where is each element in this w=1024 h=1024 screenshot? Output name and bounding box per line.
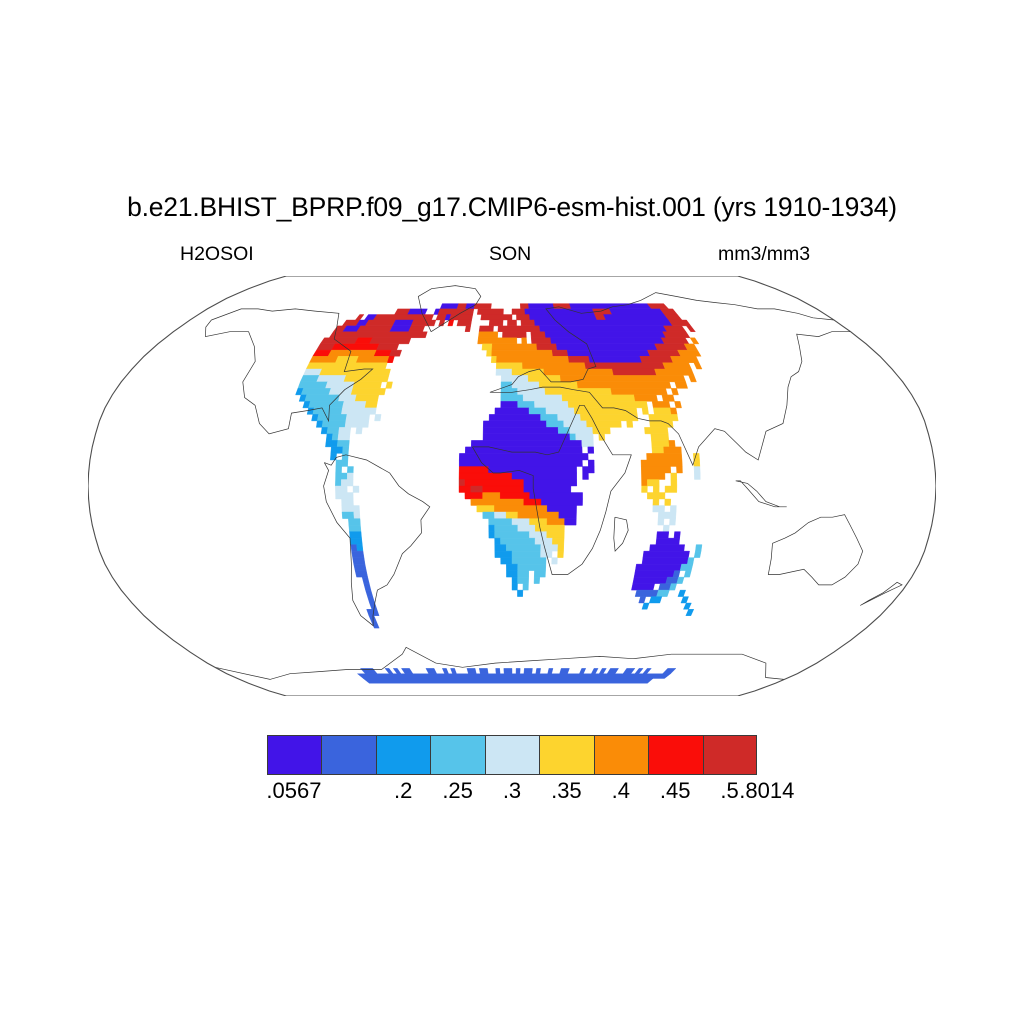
map-cell	[354, 512, 360, 519]
map-cell	[478, 338, 517, 344]
map-cell	[651, 434, 669, 441]
map-cell	[332, 344, 380, 350]
map-cell	[653, 408, 671, 415]
map-cell	[570, 427, 593, 434]
map-cell	[341, 480, 353, 487]
map-cell	[524, 499, 542, 506]
map-cell	[506, 564, 517, 571]
colorbar-segment-1[interactable]	[321, 735, 375, 775]
map-cell	[496, 363, 522, 369]
map-cell	[498, 326, 540, 332]
map-cell	[647, 480, 659, 487]
map-cell	[459, 473, 512, 480]
map-cell	[336, 460, 348, 467]
map-cell	[346, 414, 370, 421]
map-cell	[540, 326, 668, 332]
map-cell	[643, 668, 652, 673]
map-cell	[338, 395, 356, 402]
map-cell	[663, 363, 692, 369]
map-cell	[640, 356, 673, 362]
map-cell	[663, 326, 686, 332]
map-cell	[649, 414, 679, 421]
map-cell	[489, 320, 503, 326]
map-cell	[683, 603, 691, 609]
map-cell	[489, 414, 540, 421]
map-cell	[393, 668, 401, 673]
map-cell	[344, 375, 389, 382]
colorbar-segment-0[interactable]	[267, 735, 321, 775]
map-cell	[680, 564, 693, 571]
map-cell	[512, 382, 539, 389]
map-cell	[466, 304, 476, 309]
map-cell	[357, 326, 393, 332]
map-cell	[639, 597, 646, 603]
map-cell	[686, 326, 695, 332]
map-cell	[477, 506, 495, 513]
map-cell	[495, 532, 530, 539]
map-cell	[607, 668, 619, 673]
map-cell	[471, 440, 582, 447]
map-cell	[670, 408, 677, 415]
map-cell	[658, 519, 664, 526]
map-cell	[481, 315, 512, 321]
map-cell	[303, 369, 322, 375]
map-cell	[671, 473, 677, 480]
map-cell	[591, 668, 598, 673]
map-plot	[88, 276, 936, 696]
variable-label: H2OSOI	[180, 243, 254, 266]
map-cell	[518, 577, 529, 584]
map-cell	[342, 453, 348, 460]
map-cell	[548, 668, 553, 673]
map-cell	[664, 447, 682, 454]
map-cell	[568, 356, 590, 362]
map-cell	[661, 338, 689, 344]
map-cell	[529, 315, 597, 321]
map-cell	[309, 401, 344, 408]
map-cell	[336, 473, 348, 480]
map-cell	[483, 434, 570, 441]
map-cell	[658, 512, 676, 519]
map-cell	[483, 512, 495, 519]
map-cell	[642, 480, 648, 487]
map-cell	[489, 532, 495, 539]
map-cell	[659, 584, 672, 591]
map-cell	[341, 408, 376, 415]
map-cell	[568, 401, 648, 408]
map-cell	[512, 473, 577, 480]
map-cell	[337, 440, 349, 447]
colorbar-segment-7[interactable]	[648, 735, 702, 775]
map-cell	[457, 320, 472, 326]
map-cell	[635, 590, 658, 597]
colorbar-segment-5[interactable]	[539, 735, 593, 775]
map-cell	[644, 427, 668, 434]
map-cell	[536, 668, 541, 673]
map-cell	[451, 668, 457, 673]
map-cell	[569, 304, 651, 309]
map-cell	[631, 584, 654, 591]
map-cell	[449, 315, 472, 321]
map-cell	[534, 401, 568, 408]
map-cell	[486, 350, 492, 356]
colorbar-segment-2[interactable]	[376, 735, 430, 775]
map-cell	[489, 467, 577, 474]
map-cell	[546, 421, 563, 428]
colorbar-tick-1: .2	[394, 778, 412, 804]
map-cell	[335, 356, 358, 362]
map-cell	[583, 473, 589, 480]
map-cell	[495, 408, 529, 415]
coastline	[614, 517, 628, 551]
map-cell	[389, 350, 401, 356]
map-cell	[670, 356, 699, 362]
map-cell	[552, 538, 564, 545]
map-cell	[517, 590, 523, 597]
map-cell	[635, 668, 643, 673]
map-cell	[524, 486, 571, 493]
map-cell	[562, 395, 635, 402]
map-cell	[375, 414, 382, 421]
map-cell	[357, 545, 363, 552]
map-cell	[547, 532, 565, 539]
map-cell	[327, 427, 339, 434]
map-cell	[525, 309, 595, 315]
page-title: b.e21.BHIST_BPRP.f09_g17.CMIP6-esm-hist.…	[0, 192, 1024, 223]
map-cell	[335, 486, 347, 493]
map-cell	[651, 440, 669, 447]
map-cell	[529, 408, 546, 415]
map-cell	[317, 414, 347, 421]
map-cell	[653, 499, 659, 506]
map-cell	[649, 597, 662, 603]
map-cell	[350, 538, 362, 545]
map-cell	[522, 363, 586, 369]
map-cell	[393, 320, 414, 326]
map-cell	[347, 467, 353, 474]
map-cell	[694, 551, 701, 558]
map-cell	[349, 525, 361, 532]
map-cell	[329, 332, 427, 338]
map-cell	[495, 525, 518, 532]
map-cell	[694, 460, 700, 467]
map-cell	[523, 395, 562, 402]
map-cell	[355, 395, 379, 402]
map-cell	[356, 356, 389, 362]
map-cell	[518, 571, 529, 578]
map-cell	[641, 473, 665, 480]
map-cell	[459, 460, 582, 467]
map-cell	[364, 584, 371, 591]
map-cell	[529, 532, 546, 539]
map-cell	[694, 467, 700, 474]
map-cell	[501, 395, 523, 402]
map-cell	[530, 493, 583, 500]
map-cell	[401, 668, 413, 673]
map-cell	[385, 668, 393, 673]
map-cell	[663, 332, 691, 338]
map-cell	[459, 480, 465, 487]
map-cell	[642, 486, 648, 493]
map-cell	[669, 440, 675, 447]
map-cell	[656, 538, 680, 545]
map-cell	[675, 401, 682, 408]
map-cell	[465, 326, 471, 332]
map-cell	[652, 401, 670, 408]
map-cell	[492, 350, 553, 356]
map-cell	[507, 320, 516, 326]
map-cell	[354, 564, 367, 571]
map-cell	[531, 332, 546, 338]
map-cell	[663, 525, 669, 532]
map-cell	[506, 571, 517, 578]
map-cell	[321, 427, 328, 434]
map-cell	[650, 545, 685, 552]
map-cell	[438, 309, 474, 315]
map-cell	[494, 506, 547, 513]
map-cell	[642, 558, 688, 565]
map-cell	[678, 590, 686, 597]
coastline	[736, 481, 787, 507]
heatmap-cells	[296, 304, 703, 684]
map-cell	[512, 558, 546, 565]
map-cell	[298, 382, 328, 389]
season-label: SON	[489, 243, 531, 266]
map-cell	[633, 577, 668, 584]
colorbar-segment-8[interactable]	[703, 735, 757, 775]
map-cell	[662, 395, 675, 402]
map-cell	[465, 493, 483, 500]
map-cell	[612, 369, 656, 375]
map-cell	[689, 375, 697, 382]
map-cell	[494, 512, 506, 519]
map-cell	[587, 421, 622, 428]
map-cell	[500, 538, 535, 545]
map-cell	[531, 338, 551, 344]
map-cell	[336, 467, 342, 474]
map-cell	[501, 401, 518, 408]
map-cell	[544, 369, 614, 375]
map-cell	[483, 427, 558, 434]
map-cell	[512, 577, 518, 584]
map-cell	[474, 304, 492, 309]
colorbar-segment-4[interactable]	[485, 735, 539, 775]
map-cell	[467, 668, 476, 673]
map-cell	[643, 551, 690, 558]
map-cell	[647, 493, 665, 500]
map-cell	[501, 558, 512, 565]
map-cell	[676, 467, 682, 474]
map-cell	[558, 414, 581, 421]
map-cell	[567, 350, 650, 356]
map-cell	[482, 344, 492, 350]
map-cell	[671, 480, 677, 487]
map-cell	[349, 532, 361, 539]
map-cell	[491, 356, 497, 362]
map-cell	[328, 350, 377, 356]
map-cell	[496, 668, 501, 673]
colorbar-segment-3[interactable]	[430, 735, 484, 775]
map-cell	[353, 486, 359, 493]
map-cell	[325, 382, 354, 389]
map-cell	[657, 590, 670, 597]
map-cell	[674, 532, 680, 539]
colorbar-tick-8: .8014	[739, 778, 794, 804]
map-cell	[459, 467, 488, 474]
subtitle-row: H2OSOI SON mm3/mm3	[0, 243, 1024, 267]
map-cell	[342, 499, 354, 506]
map-cell	[411, 320, 436, 326]
map-cell	[489, 525, 495, 532]
map-cell	[669, 519, 675, 526]
map-cell	[342, 401, 366, 408]
map-cell	[339, 427, 351, 434]
map-cell	[516, 668, 520, 673]
map-cell	[478, 332, 498, 338]
map-cell	[666, 577, 679, 584]
map-cell	[560, 375, 686, 382]
map-cell	[347, 473, 353, 480]
map-cell	[593, 427, 611, 434]
map-cell	[351, 545, 358, 552]
map-cell	[681, 597, 689, 603]
map-cell	[483, 421, 546, 428]
map-cell	[524, 668, 533, 673]
map-cell	[496, 356, 569, 362]
map-cell	[309, 356, 338, 362]
map-cell	[518, 401, 535, 408]
map-cell	[695, 545, 702, 552]
map-cell	[489, 519, 512, 526]
map-cell	[655, 344, 688, 350]
map-cell	[465, 480, 524, 487]
map-cell	[338, 434, 350, 441]
map-cell	[627, 421, 633, 428]
map-cell	[374, 350, 392, 356]
map-cell	[365, 320, 396, 326]
map-cell	[459, 486, 471, 493]
map-cell	[516, 315, 530, 321]
map-cell	[518, 564, 546, 571]
map-cell	[585, 363, 665, 369]
colorbar-tick-4: .35	[551, 778, 582, 804]
map-cell	[369, 338, 411, 344]
map-cell	[545, 332, 666, 338]
map-cell	[442, 668, 448, 673]
map-cell	[351, 388, 386, 395]
colorbar-tick-3: .3	[503, 778, 521, 804]
map-cell	[565, 519, 577, 526]
map-cell	[317, 375, 347, 382]
map-cell	[609, 309, 664, 315]
map-cell	[641, 467, 671, 474]
colorbar[interactable]	[267, 735, 757, 775]
coastline	[860, 582, 902, 605]
map-cell	[322, 421, 346, 428]
map-cell	[355, 571, 368, 578]
map-cell	[479, 326, 494, 332]
map-cell	[506, 545, 541, 552]
map-cell	[599, 668, 606, 673]
map-cell	[589, 356, 642, 362]
map-cell	[560, 668, 570, 673]
map-cell	[390, 326, 411, 332]
map-cell	[440, 304, 459, 309]
map-cell	[457, 304, 467, 309]
map-cell	[534, 571, 545, 578]
map-cell	[348, 519, 360, 526]
colorbar-tick-2: .25	[442, 778, 473, 804]
map-cell	[647, 453, 683, 460]
map-cell	[634, 571, 674, 578]
map-cell	[479, 668, 488, 673]
map-cell	[353, 382, 382, 389]
map-cell	[336, 493, 354, 500]
map-cell	[342, 506, 360, 513]
map-cell	[657, 532, 669, 539]
map-cell	[582, 440, 594, 447]
map-cell	[642, 603, 649, 609]
colorbar-segment-6[interactable]	[594, 735, 648, 775]
map-cell	[669, 320, 691, 326]
map-cell	[541, 414, 558, 421]
map-cell	[588, 447, 594, 454]
map-cell	[641, 460, 682, 467]
map-cell	[583, 467, 595, 474]
map-cell	[534, 577, 540, 584]
map-cell	[483, 486, 524, 493]
map-cell	[366, 590, 373, 597]
map-cell	[559, 512, 577, 519]
map-cell	[495, 545, 507, 552]
map-cell	[534, 320, 672, 326]
colorbar-tick-labels: .0567.2.25.3.35.4.45.5.8014	[0, 778, 1024, 808]
map-cell	[577, 382, 671, 389]
map-cell	[574, 408, 637, 415]
colorbar-tick-5: .4	[612, 778, 630, 804]
robinson-map-svg	[88, 276, 936, 696]
map-cell	[653, 486, 659, 493]
map-cell	[580, 414, 638, 421]
map-cell	[551, 338, 665, 344]
map-cell	[655, 369, 695, 375]
map-cell	[623, 668, 635, 673]
map-cell	[316, 421, 323, 428]
map-cell	[670, 506, 676, 513]
coastline	[768, 515, 862, 585]
map-cell	[353, 558, 365, 565]
map-cell	[634, 395, 658, 402]
map-cell	[426, 668, 437, 673]
map-cell	[671, 388, 678, 395]
map-cell	[477, 309, 503, 315]
map-cell	[537, 344, 558, 350]
map-cell	[377, 344, 399, 350]
map-cell	[647, 350, 680, 356]
map-cell	[352, 551, 364, 558]
map-cell	[547, 506, 576, 513]
map-cell	[694, 473, 700, 480]
map-cell	[386, 382, 393, 389]
colorbar-tick-6: .45	[660, 778, 691, 804]
map-cell	[335, 480, 341, 487]
colorbar-tick-7: .5	[720, 778, 738, 804]
map-cell	[588, 460, 594, 467]
map-cell	[570, 434, 576, 441]
map-cell	[512, 551, 541, 558]
map-cell	[300, 375, 319, 382]
map-cell	[603, 315, 668, 321]
